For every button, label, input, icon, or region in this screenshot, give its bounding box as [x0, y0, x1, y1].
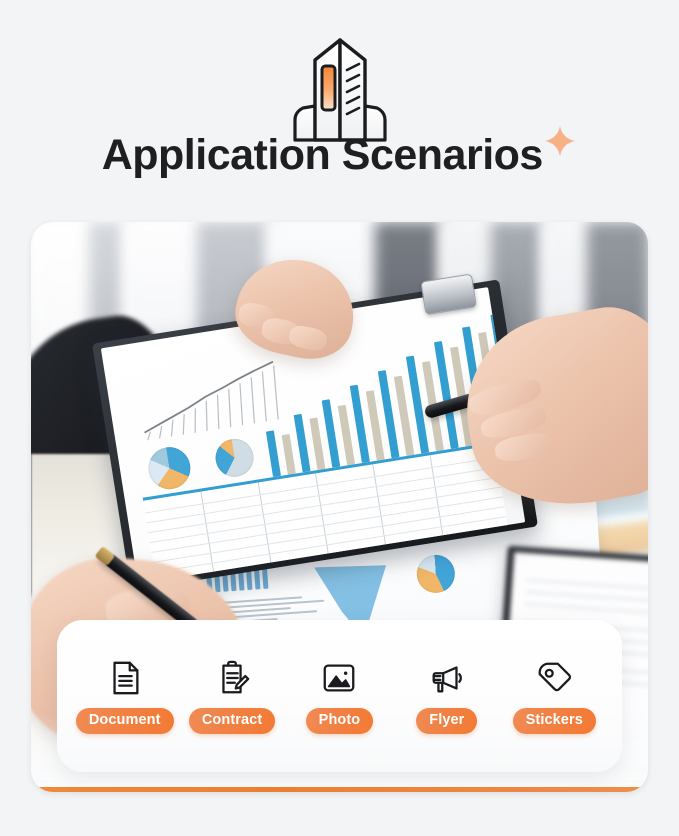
feature-item-contract[interactable]: Contract [180, 658, 284, 734]
building-icon [277, 34, 403, 142]
feature-label-document: Document [76, 708, 174, 734]
feature-label-stickers: Stickers [513, 708, 596, 734]
feature-label-contract: Contract [189, 708, 275, 734]
feature-tags-card: Document Contract Photo [57, 620, 622, 772]
page-title: Application Scenarios [102, 128, 543, 182]
feature-item-stickers[interactable]: Stickers [502, 658, 606, 734]
feature-label-flyer: Flyer [416, 708, 477, 734]
feature-item-photo[interactable]: Photo [287, 658, 391, 734]
title-row: Application Scenarios [0, 128, 679, 182]
pie-chart [213, 436, 256, 479]
feature-item-flyer[interactable]: Flyer [395, 658, 499, 734]
image-icon [319, 658, 359, 698]
document-icon [105, 658, 145, 698]
megaphone-icon [427, 658, 467, 698]
sparkle-icon [543, 124, 577, 158]
pie-chart [145, 444, 193, 492]
clipboard-pencil-icon [212, 658, 252, 698]
price-tag-icon [534, 658, 574, 698]
pie-chart [416, 554, 457, 595]
feature-item-document[interactable]: Document [73, 658, 177, 734]
page-header: Application Scenarios [0, 0, 679, 210]
feature-label-photo: Photo [306, 708, 374, 734]
